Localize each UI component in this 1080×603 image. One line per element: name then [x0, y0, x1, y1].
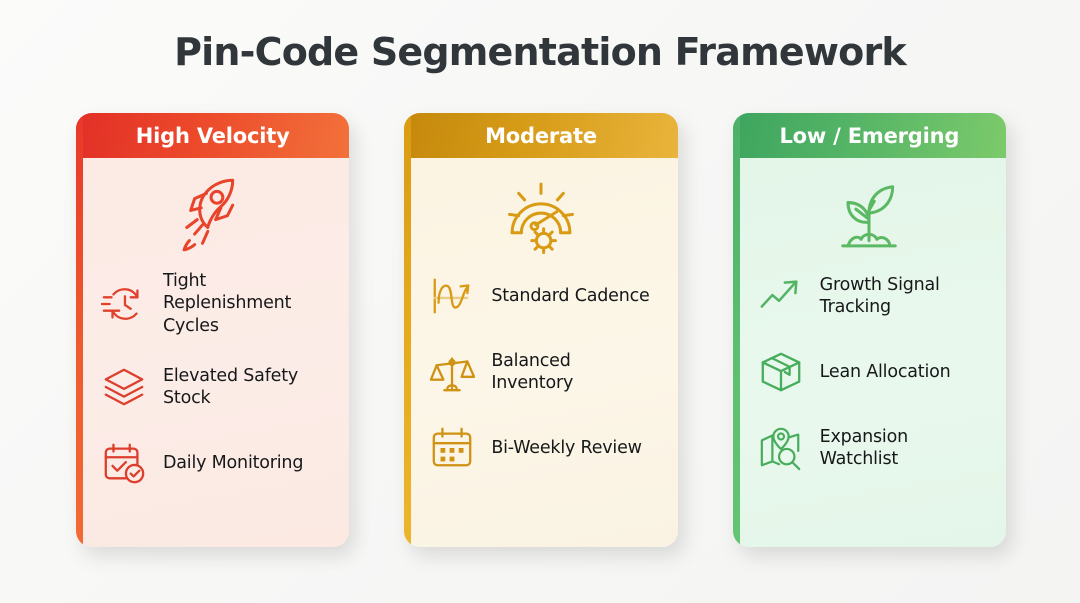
segment-card-moderate[interactable]: Moderate — [404, 113, 677, 547]
feature-list-moderate: Standard Cadence — [404, 270, 677, 474]
page-title: Pin-Code Segmentation Framework — [0, 30, 1080, 74]
calendar-check-icon — [98, 437, 150, 489]
card-body-high-velocity: Tight Replenishment Cycles Elevated Safe… — [76, 158, 349, 547]
feature-label: Daily Monitoring — [163, 452, 303, 474]
card-accent-bar — [76, 113, 83, 547]
feature-label: Balanced Inventory — [491, 350, 657, 395]
feature-item[interactable]: Bi-Weekly Review — [426, 422, 657, 474]
feature-label: Expansion Watchlist — [820, 426, 986, 471]
fast-clock-icon — [98, 278, 150, 330]
card-body-low-emerging: Growth Signal Tracking Lean Allocation — [733, 158, 1006, 547]
feature-label: Growth Signal Tracking — [820, 274, 986, 319]
feature-label: Tight Replenishment Cycles — [163, 270, 329, 337]
feature-list-low-emerging: Growth Signal Tracking Lean Allocation — [733, 270, 1006, 474]
feature-item[interactable]: Balanced Inventory — [426, 346, 657, 398]
feature-label: Elevated Safety Stock — [163, 365, 329, 410]
feature-item[interactable]: Tight Replenishment Cycles — [98, 270, 329, 337]
map-pin-search-icon — [755, 422, 807, 474]
gauge-gear-icon — [499, 174, 583, 260]
card-header-low-emerging: Low / Emerging — [733, 113, 1006, 158]
card-accent-bar — [404, 113, 411, 547]
card-accent-bar — [733, 113, 740, 547]
feature-label: Standard Cadence — [491, 285, 649, 307]
feature-list-high-velocity: Tight Replenishment Cycles Elevated Safe… — [76, 270, 349, 489]
card-header-moderate: Moderate — [404, 113, 677, 158]
trending-up-arrow-icon — [755, 270, 807, 322]
wave-trend-icon — [426, 270, 478, 322]
segment-card-group: High Velocity — [76, 113, 1006, 547]
feature-label: Bi-Weekly Review — [491, 437, 641, 459]
segment-card-high-velocity[interactable]: High Velocity — [76, 113, 349, 547]
segment-card-low-emerging[interactable]: Low / Emerging — [733, 113, 1006, 547]
feature-item[interactable]: Daily Monitoring — [98, 437, 329, 489]
infographic-page: Pin-Code Segmentation Framework High Vel… — [0, 0, 1080, 603]
rocket-icon — [171, 174, 255, 260]
feature-label: Lean Allocation — [820, 361, 951, 383]
layers-stack-icon — [98, 361, 150, 413]
feature-item[interactable]: Lean Allocation — [755, 346, 986, 398]
package-box-icon — [755, 346, 807, 398]
card-body-moderate: Standard Cadence — [404, 158, 677, 547]
feature-item[interactable]: Standard Cadence — [426, 270, 657, 322]
feature-item[interactable]: Growth Signal Tracking — [755, 270, 986, 322]
calendar-grid-icon — [426, 422, 478, 474]
feature-item[interactable]: Elevated Safety Stock — [98, 361, 329, 413]
balance-scales-icon — [426, 346, 478, 398]
feature-item[interactable]: Expansion Watchlist — [755, 422, 986, 474]
card-header-high-velocity: High Velocity — [76, 113, 349, 158]
seedling-sprout-icon — [827, 174, 911, 260]
